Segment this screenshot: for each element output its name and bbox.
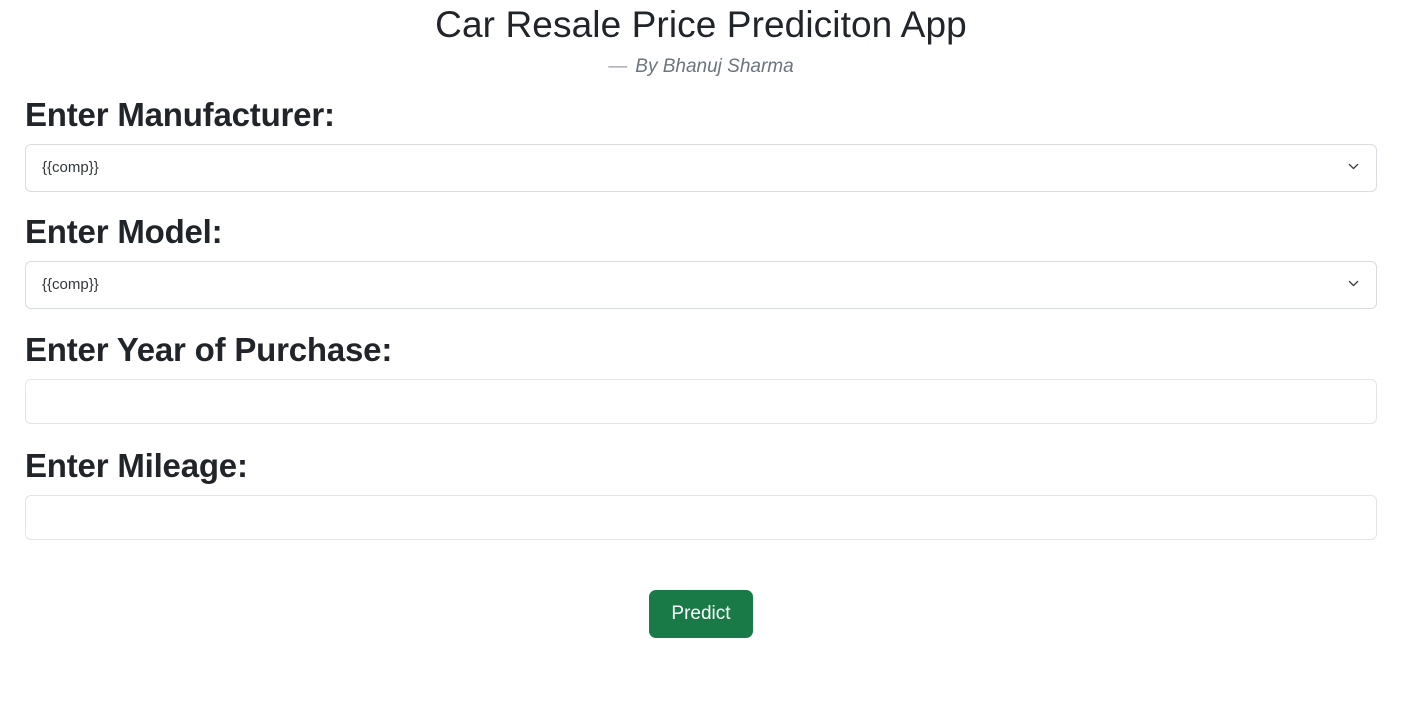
field-model: Enter Model: {{comp}}	[25, 213, 1377, 309]
page-title: Car Resale Price Prediciton App	[0, 4, 1402, 47]
label-model: Enter Model:	[25, 213, 1377, 251]
chevron-down-icon	[1348, 278, 1359, 289]
manufacturer-selected-value: {{comp}}	[42, 159, 99, 176]
mileage-input[interactable]	[25, 495, 1377, 540]
em-dash: —	[608, 56, 628, 77]
label-year-of-purchase: Enter Year of Purchase:	[25, 331, 1377, 369]
label-mileage: Enter Mileage:	[25, 447, 1377, 485]
app-header: Car Resale Price Prediciton App —By Bhan…	[0, 0, 1402, 78]
author-byline: —By Bhanuj Sharma	[0, 56, 1402, 79]
predict-button[interactable]: Predict	[649, 590, 752, 638]
field-year-of-purchase: Enter Year of Purchase:	[25, 331, 1377, 424]
model-select[interactable]: {{comp}}	[25, 261, 1377, 309]
prediction-form: Enter Manufacturer: {{comp}} Enter Model…	[0, 96, 1402, 638]
model-selected-value: {{comp}}	[42, 276, 99, 293]
manufacturer-select[interactable]: {{comp}}	[25, 144, 1377, 192]
chevron-down-icon	[1348, 161, 1359, 172]
label-manufacturer: Enter Manufacturer:	[25, 96, 1377, 134]
submit-row: Predict	[25, 590, 1377, 638]
field-manufacturer: Enter Manufacturer: {{comp}}	[25, 96, 1377, 192]
field-mileage: Enter Mileage:	[25, 447, 1377, 540]
year-of-purchase-input[interactable]	[25, 379, 1377, 424]
app-page: Car Resale Price Prediciton App —By Bhan…	[0, 0, 1402, 701]
author-name: By Bhanuj Sharma	[635, 56, 793, 77]
